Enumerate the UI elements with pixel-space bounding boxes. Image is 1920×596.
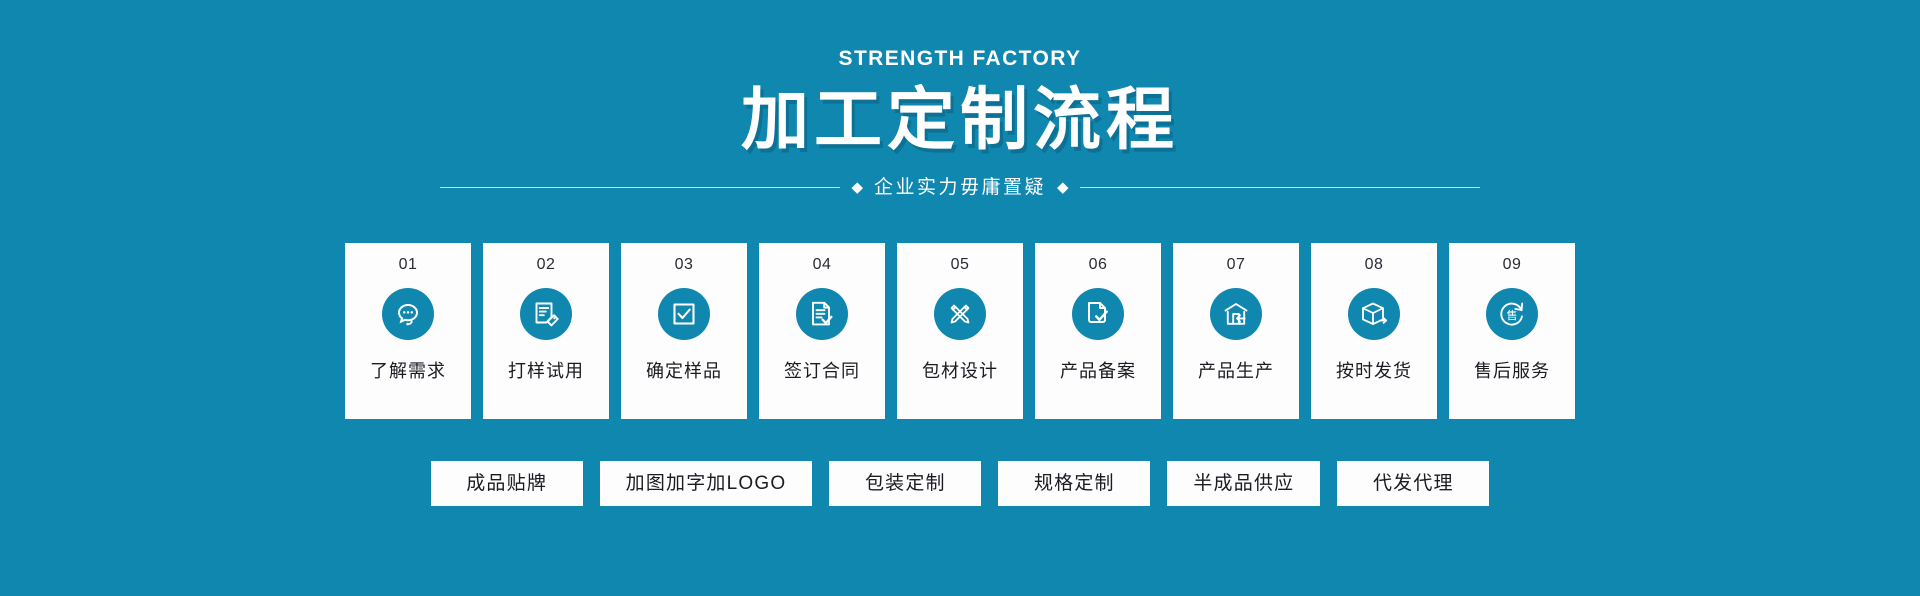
after-sales-refresh-icon: 售: [1486, 288, 1538, 340]
step-number: 09: [1503, 257, 1522, 273]
step-number: 01: [399, 257, 418, 273]
checkbox-icon: [658, 288, 710, 340]
rule-right: [1080, 187, 1480, 188]
tag-dropshipping-agency[interactable]: 代发代理: [1337, 461, 1489, 506]
document-tag-icon: [520, 288, 572, 340]
tag-finished-product-oem[interactable]: 成品贴牌: [431, 461, 583, 506]
step-number: 08: [1365, 257, 1384, 273]
tag-add-image-text-logo[interactable]: 加图加字加LOGO: [600, 461, 813, 506]
step-card-01[interactable]: 01 了解需求: [345, 243, 471, 419]
diamond-right-icon: ◆: [1046, 180, 1080, 195]
step-label: 产品备案: [1060, 362, 1136, 380]
process-banner: STRENGTH FACTORY 加工定制流程 ◆ 企业实力毋庸置疑 ◆ 01: [0, 0, 1920, 596]
step-number: 04: [813, 257, 832, 273]
step-label: 打样试用: [508, 362, 584, 380]
package-arrow-icon: [1348, 288, 1400, 340]
step-number: 03: [675, 257, 694, 273]
diamond-left-icon: ◆: [840, 180, 874, 195]
step-label: 售后服务: [1474, 362, 1550, 380]
tag-spec-customization[interactable]: 规格定制: [998, 461, 1150, 506]
factory-arrow-icon: [1210, 288, 1262, 340]
step-card-05[interactable]: 05 包材设计: [897, 243, 1023, 419]
step-card-07[interactable]: 07 产品生产: [1173, 243, 1299, 419]
tag-packaging-customization[interactable]: 包装定制: [829, 461, 981, 506]
step-number: 07: [1227, 257, 1246, 273]
page-title: 加工定制流程: [741, 85, 1179, 156]
step-card-06[interactable]: 06 产品备案: [1035, 243, 1161, 419]
step-card-04[interactable]: 04 签订合同: [759, 243, 885, 419]
step-number: 02: [537, 257, 556, 273]
step-card-02[interactable]: 02 打样试用: [483, 243, 609, 419]
step-number: 05: [951, 257, 970, 273]
step-card-03[interactable]: 03 确定样品: [621, 243, 747, 419]
file-check-icon: [1072, 288, 1124, 340]
step-card-09[interactable]: 09 售 售后服务: [1449, 243, 1575, 419]
step-card-08[interactable]: 08 按时发货: [1311, 243, 1437, 419]
contract-check-icon: [796, 288, 848, 340]
rule-left: [440, 187, 840, 188]
svg-text:售: 售: [1507, 308, 1518, 322]
process-steps: 01 了解需求 02: [345, 243, 1575, 419]
subtitle-row: ◆ 企业实力毋庸置疑 ◆: [440, 178, 1480, 197]
step-label: 产品生产: [1198, 362, 1274, 380]
step-label: 按时发货: [1336, 362, 1412, 380]
step-label: 了解需求: [370, 362, 446, 380]
banner-header: STRENGTH FACTORY 加工定制流程 ◆ 企业实力毋庸置疑 ◆: [0, 0, 1920, 197]
tag-semi-finished-supply[interactable]: 半成品供应: [1167, 461, 1320, 506]
step-label: 包材设计: [922, 362, 998, 380]
chat-bubble-headset-icon: [382, 288, 434, 340]
subtitle-text: 企业实力毋庸置疑: [874, 178, 1046, 197]
step-label: 签订合同: [784, 362, 860, 380]
service-tags: 成品贴牌 加图加字加LOGO 包装定制 规格定制 半成品供应 代发代理: [431, 461, 1490, 506]
step-number: 06: [1089, 257, 1108, 273]
step-label: 确定样品: [646, 362, 722, 380]
eyebrow-text: STRENGTH FACTORY: [839, 48, 1082, 69]
pen-ruler-cross-icon: [934, 288, 986, 340]
